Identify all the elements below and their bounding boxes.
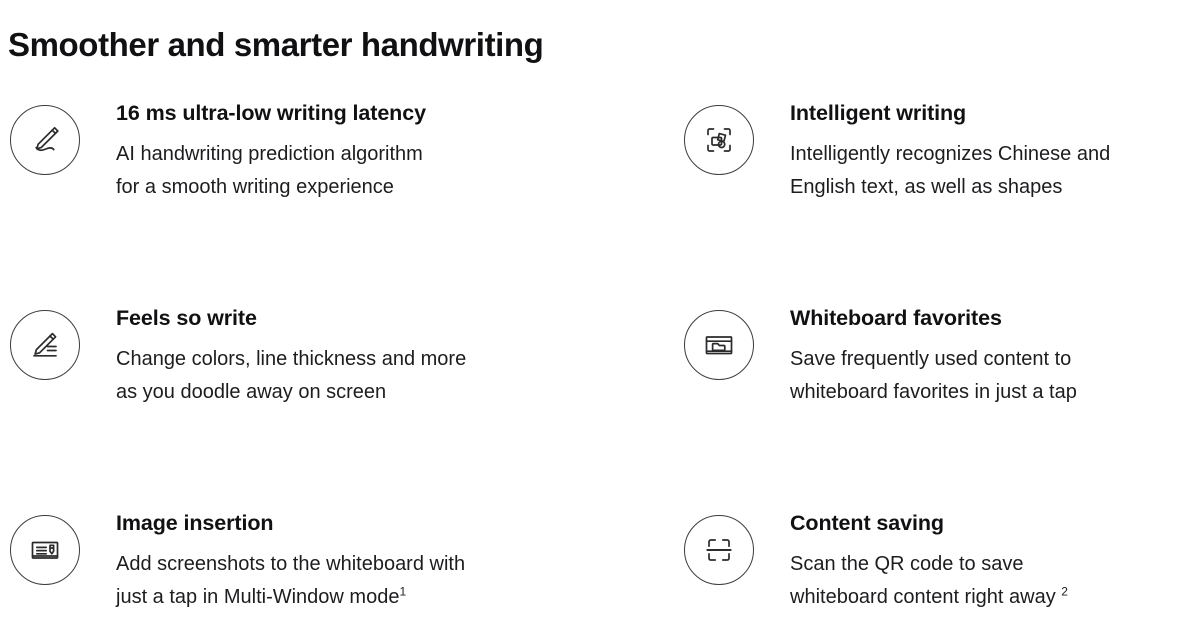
qr-scan-icon (684, 515, 754, 585)
footnote-marker: 2 (1061, 584, 1068, 598)
feature-item-writing-latency: 16 ms ultra-low writing latency AI handw… (0, 80, 675, 285)
feature-description-text: whiteboard content right away (790, 586, 1061, 608)
feature-description-line-1: AI handwriting prediction algorithm (116, 138, 426, 171)
feature-description-line-1: Add screenshots to the whiteboard with (116, 548, 465, 581)
feature-item-feels-so-write: Feels so write Change colors, line thick… (0, 285, 675, 490)
feature-text: 16 ms ultra-low writing latency AI handw… (80, 100, 426, 204)
feature-description-line-1: Change colors, line thickness and more (116, 343, 466, 376)
feature-description-line-1: Intelligently recognizes Chinese and (790, 138, 1110, 171)
board-folder-icon (684, 310, 754, 380)
feature-title: Content saving (790, 510, 1068, 536)
feature-text: Image insertion Add screenshots to the w… (80, 510, 465, 614)
feature-description-line-2: whiteboard favorites in just a tap (790, 376, 1077, 409)
feature-item-content-saving: Content saving Scan the QR code to save … (675, 490, 1200, 630)
feature-title: Intelligent writing (790, 100, 1110, 126)
feature-text: Feels so write Change colors, line thick… (80, 305, 466, 409)
page-title: Smoother and smarter handwriting (8, 26, 543, 64)
footnote-marker: 1 (399, 584, 406, 598)
feature-description-line-1: Scan the QR code to save (790, 548, 1068, 581)
feature-text: Whiteboard favorites Save frequently use… (754, 305, 1077, 409)
feature-text: Content saving Scan the QR code to save … (754, 510, 1068, 614)
feature-highlights-page: Smoother and smarter handwriting 16 ms u… (0, 0, 1200, 622)
feature-item-image-insertion: Image insertion Add screenshots to the w… (0, 490, 675, 630)
feature-title: Feels so write (116, 305, 466, 331)
pen-lines-icon (10, 310, 80, 380)
feature-title: Whiteboard favorites (790, 305, 1077, 331)
feature-description-text: just a tap in Multi-Window mode (116, 586, 399, 608)
feature-description-line-2: whiteboard content right away 2 (790, 581, 1068, 614)
features-grid: 16 ms ultra-low writing latency AI handw… (0, 80, 1200, 630)
pen-stroke-icon (10, 105, 80, 175)
feature-item-whiteboard-favorites: Whiteboard favorites Save frequently use… (675, 285, 1200, 490)
feature-title: Image insertion (116, 510, 465, 536)
feature-text: Intelligent writing Intelligently recogn… (754, 100, 1110, 204)
feature-item-intelligent-writing: Intelligent writing Intelligently recogn… (675, 80, 1200, 285)
scan-shapes-icon (684, 105, 754, 175)
feature-description-line-2: as you doodle away on screen (116, 376, 466, 409)
feature-description-line-2: English text, as well as shapes (790, 171, 1110, 204)
feature-description-line-2: just a tap in Multi-Window mode1 (116, 581, 465, 614)
feature-description-line-1: Save frequently used content to (790, 343, 1077, 376)
image-card-pen-icon (10, 515, 80, 585)
feature-description-line-2: for a smooth writing experience (116, 171, 426, 204)
feature-title: 16 ms ultra-low writing latency (116, 100, 426, 126)
